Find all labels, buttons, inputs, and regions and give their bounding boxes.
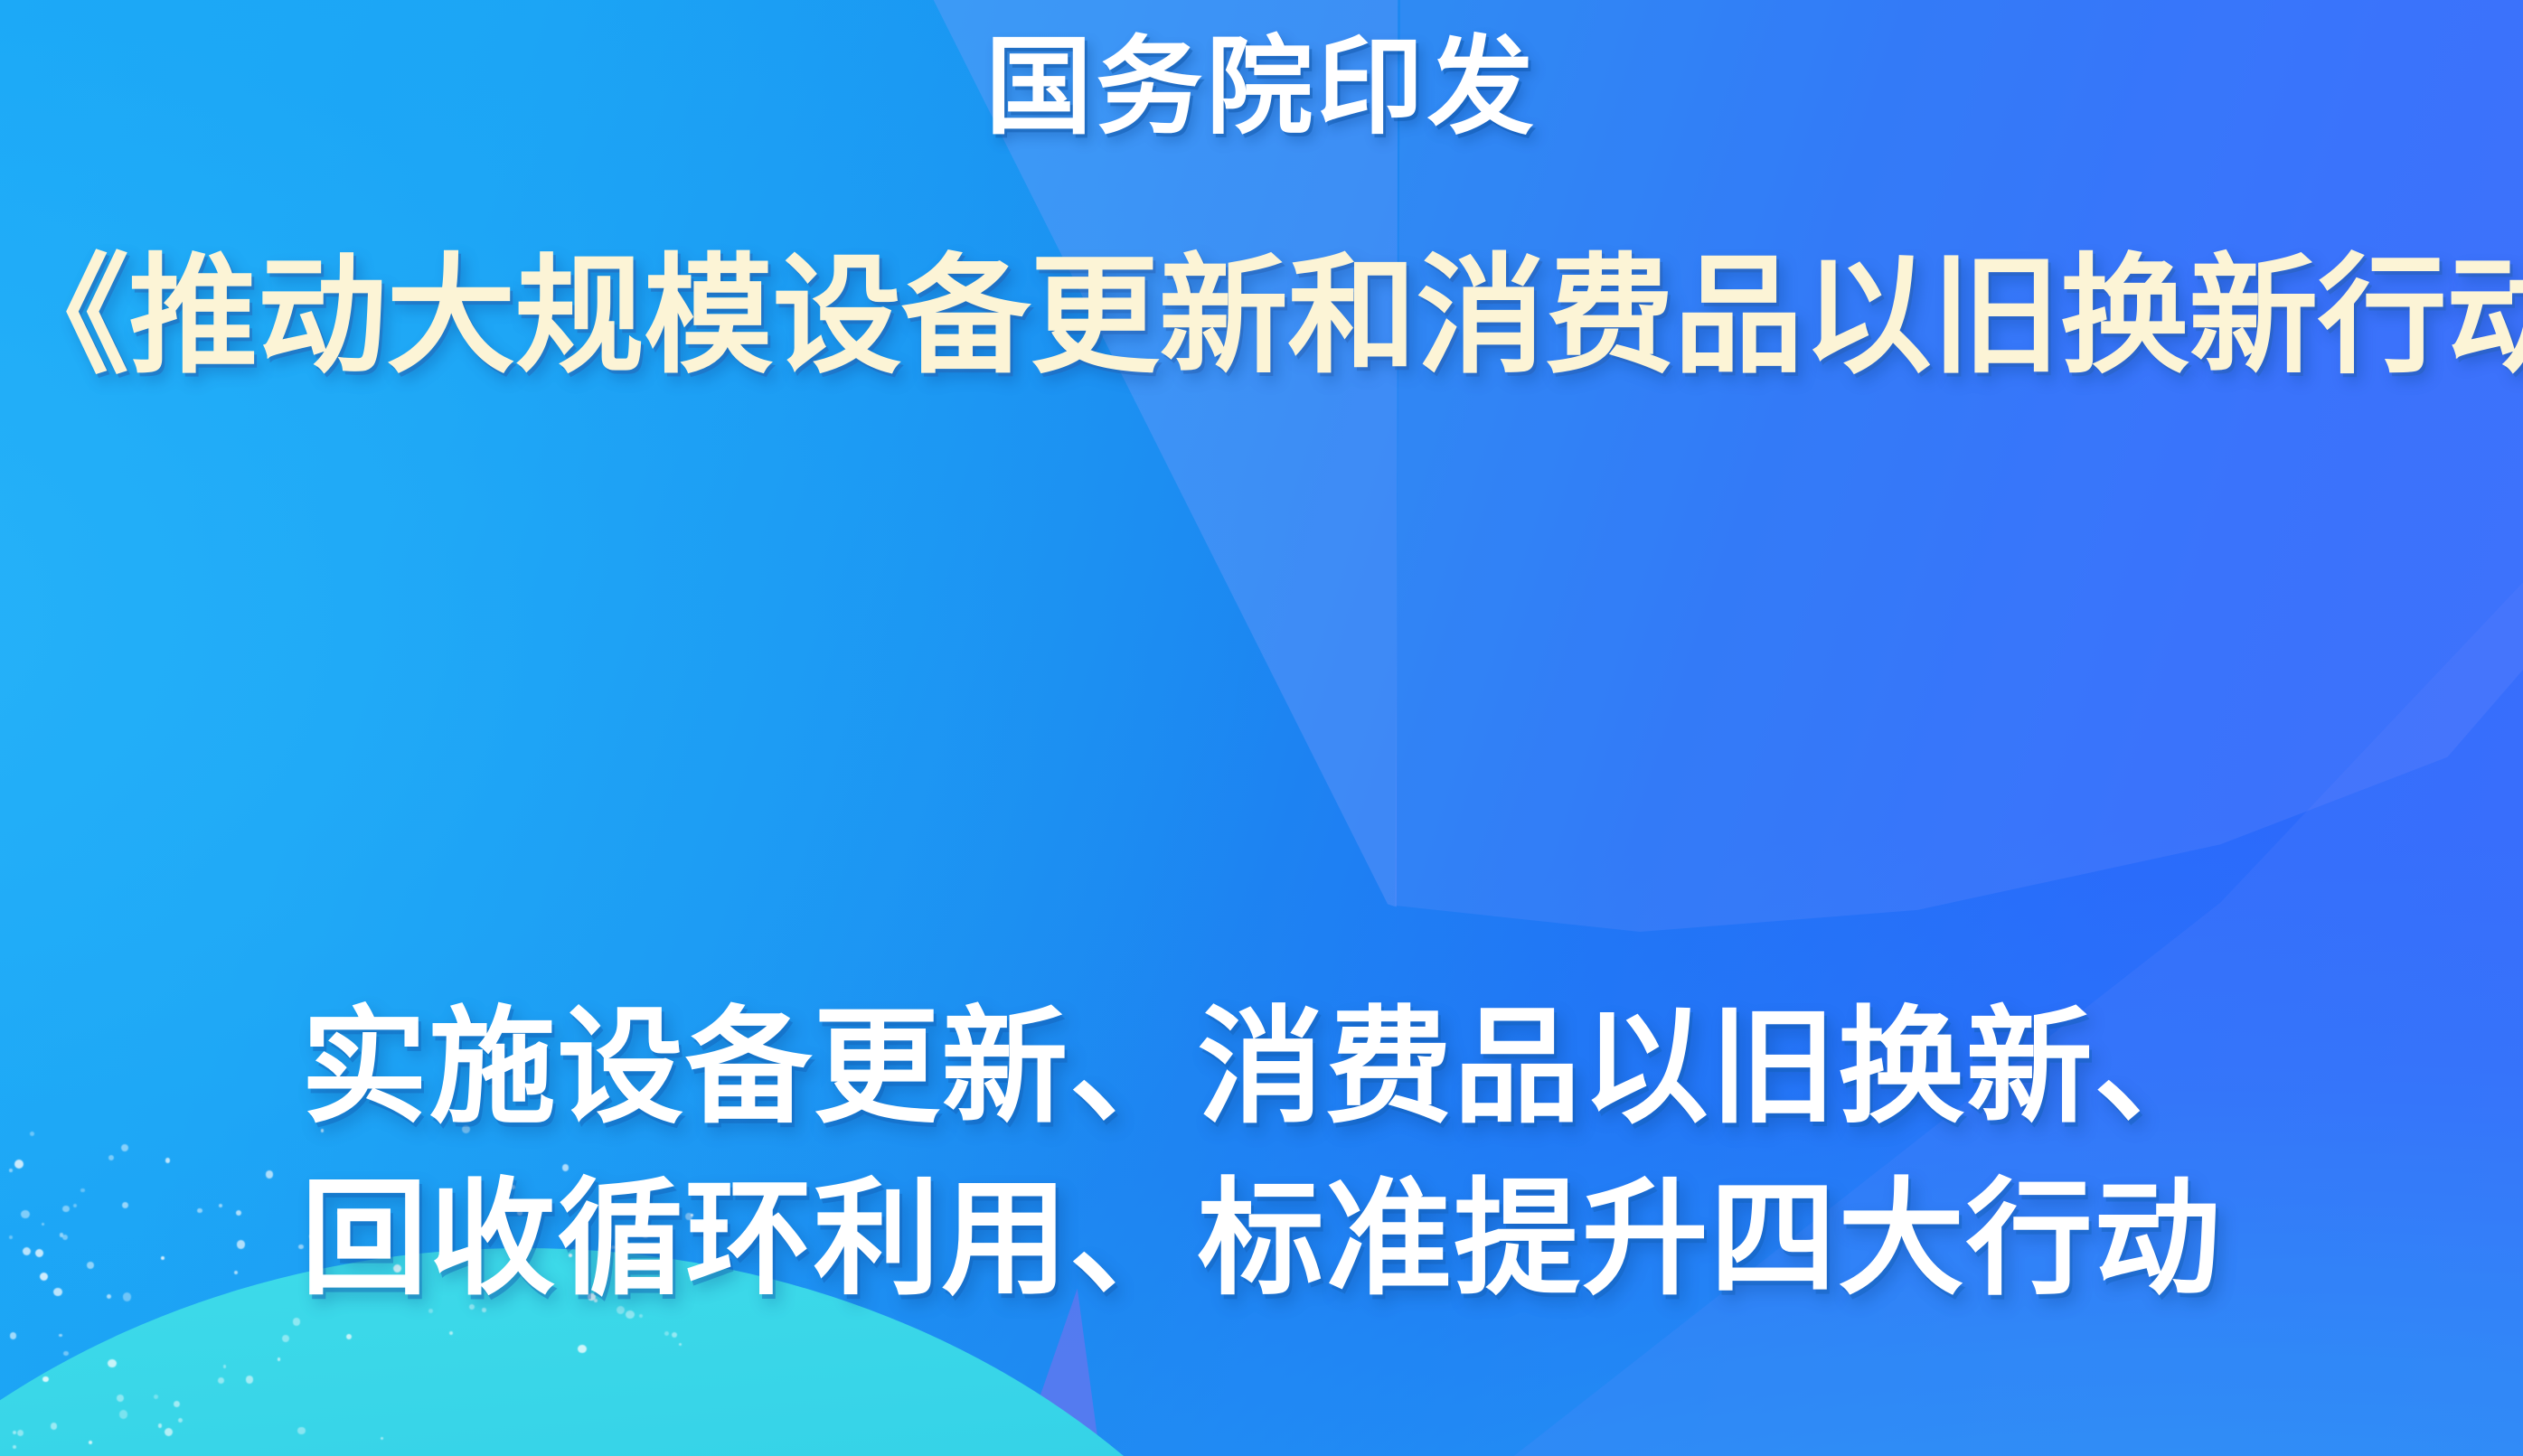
poster-body-line-2: 回收循环利用、标准提升四大行动 — [0, 1164, 2523, 1313]
poster-text-layer: 国务院印发 《推动大规模设备更新和消费品以旧换新行动方案》 实施设备更新、消费品… — [0, 0, 2523, 1456]
poster-body-line-1: 实施设备更新、消费品以旧换新、 — [0, 992, 2523, 1141]
poster-document-title: 《推动大规模设备更新和消费品以旧换新行动方案》 — [0, 242, 2523, 392]
poster-canvas: 国务院印发 《推动大规模设备更新和消费品以旧换新行动方案》 实施设备更新、消费品… — [0, 0, 2523, 1456]
poster-heading: 国务院印发 — [0, 25, 2523, 151]
